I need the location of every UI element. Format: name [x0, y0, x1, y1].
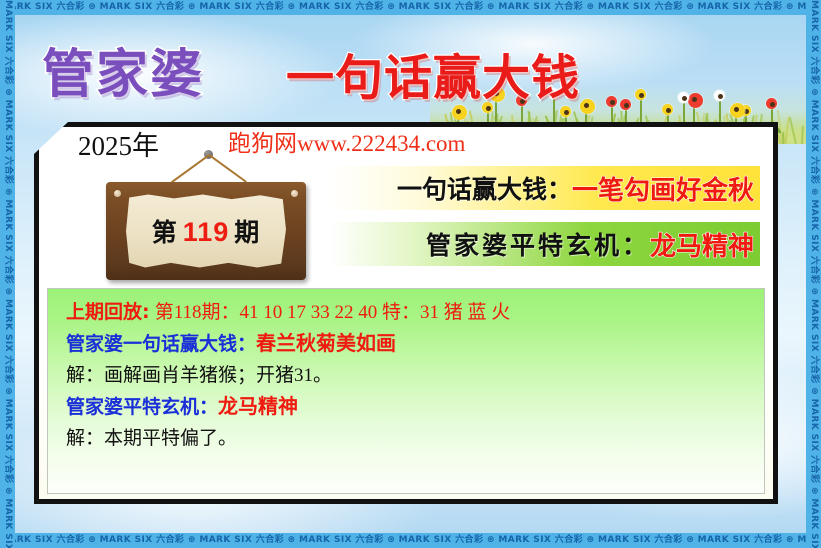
phrase-value: 春兰秋菊美如画 [256, 331, 396, 355]
replay-title: 上期回放: [66, 301, 150, 323]
content-box: 上期回放: 第118期：41 10 17 33 22 40 特：31 猪 蓝 火… [47, 288, 765, 494]
watermark-left: MARK SIX 六合彩 ⊛ MARK SIX 六合彩 ⊛ MARK SIX 六… [0, 0, 15, 548]
phrase-title: 管家婆一句话赢大钱： [66, 333, 256, 355]
flower-icon [606, 96, 617, 107]
banner-phrase-label: 一句话赢大钱： [397, 170, 572, 206]
rope-left-icon [171, 154, 209, 182]
phrase-explain-text: 解：画解画肖羊猪猴；开猪31。 [66, 365, 332, 386]
sign-board: 第119期 [106, 182, 306, 280]
secret-title: 管家婆平特玄机： [66, 396, 218, 418]
secret-value: 龙马精神 [218, 394, 298, 418]
content-line-phrase: 管家婆一句话赢大钱：春兰秋菊美如画 [66, 333, 746, 354]
content-line-replay: 上期回放: 第118期：41 10 17 33 22 40 特：31 猪 蓝 火 [66, 303, 746, 322]
flower-icon [620, 99, 631, 110]
banner-phrase-value: 一笔勾画好金秋 [572, 170, 754, 207]
issue-suffix: 期 [234, 220, 260, 247]
sign-paper: 第119期 [126, 193, 286, 269]
page-title-main: 管家婆 [42, 32, 204, 107]
issue-text: 第119期 [152, 213, 261, 249]
issue-prefix: 第 [152, 220, 178, 247]
issue-number: 119 [178, 217, 235, 247]
grass-blade-icon [801, 126, 804, 144]
banner-secret: 管家婆平特玄机：龙马精神 [330, 222, 760, 266]
site-url-label[interactable]: 跑狗网www.222434.com [228, 124, 465, 158]
flower-icon [635, 89, 646, 100]
flower-icon [766, 98, 777, 109]
page-title-sub: 一句话赢大钱 [286, 38, 580, 108]
frame-bottom: MARK SIX 六合彩 ⊛ MARK SIX 六合彩 ⊛ MARK SIX 六… [0, 533, 821, 548]
frame-right: MARK SIX 六合彩 ⊛ MARK SIX 六合彩 ⊛ MARK SIX 六… [806, 0, 821, 548]
frame-left: MARK SIX 六合彩 ⊛ MARK SIX 六合彩 ⊛ MARK SIX 六… [0, 0, 15, 548]
flower-icon [580, 99, 595, 114]
content-line-secret: 管家婆平特玄机：龙马精神 [66, 396, 746, 417]
issue-sign: 第119期 [96, 150, 316, 285]
page-root: 管家婆 一句话赢大钱 2025年 跑狗网www.222434.com 第119期… [0, 0, 821, 548]
frame-top: MARK SIX 六合彩 ⊛ MARK SIX 六合彩 ⊛ MARK SIX 六… [0, 0, 821, 15]
grass-blade-icon [789, 116, 797, 144]
rope-right-icon [208, 154, 246, 182]
watermark-top: MARK SIX 六合彩 ⊛ MARK SIX 六合彩 ⊛ MARK SIX 六… [0, 0, 821, 15]
banner-phrase: 一句话赢大钱：一笔勾画好金秋 [330, 166, 760, 210]
flower-icon [688, 93, 703, 108]
content-line-phrase-explain: 解：画解画肖羊猪猴；开猪31。 [66, 366, 746, 385]
watermark-right: MARK SIX 六合彩 ⊛ MARK SIX 六合彩 ⊛ MARK SIX 六… [806, 0, 821, 548]
banner-secret-label: 管家婆平特玄机： [426, 226, 650, 262]
banner-secret-value: 龙马精神 [650, 226, 754, 263]
watermark-bottom: MARK SIX 六合彩 ⊛ MARK SIX 六合彩 ⊛ MARK SIX 六… [0, 533, 821, 548]
secret-explain-text: 解：本期平特偏了。 [66, 428, 237, 449]
year-label: 2025年 [78, 124, 159, 163]
flower-icon [678, 92, 689, 103]
replay-body: 第118期：41 10 17 33 22 40 特：31 猪 蓝 火 [155, 302, 511, 323]
flower-icon [714, 90, 725, 101]
flower-icon [662, 104, 673, 115]
content-line-secret-explain: 解：本期平特偏了。 [66, 429, 746, 448]
flower-icon [730, 103, 745, 118]
